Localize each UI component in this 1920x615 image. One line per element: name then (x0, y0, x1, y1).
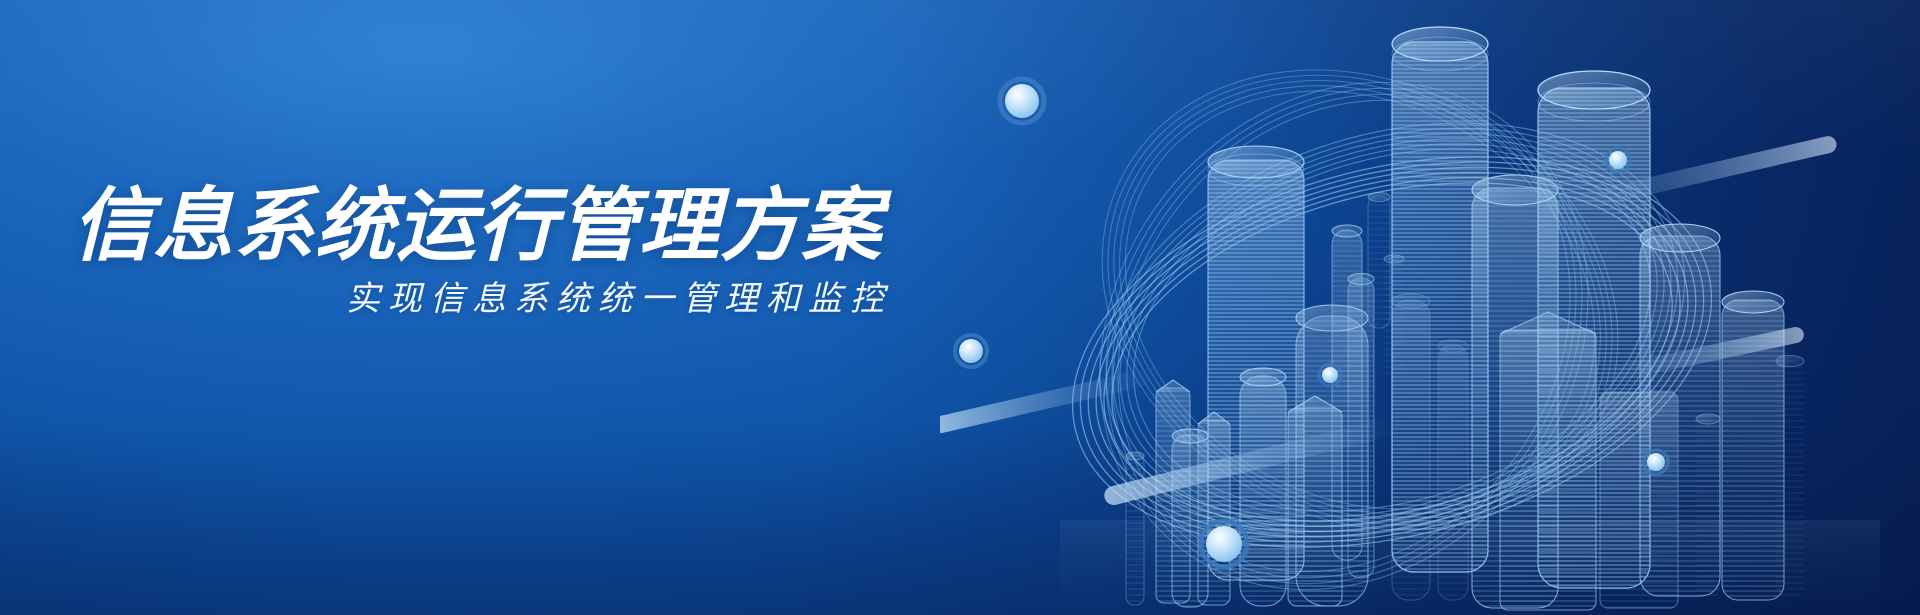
headline-block: 信息系统运行管理方案 实现信息系统统一管理和监控 (0, 0, 980, 615)
banner-title: 信息系统运行管理方案 (72, 183, 882, 269)
banner-subtitle: 实现信息系统统一管理和监控 (72, 279, 892, 320)
banner-root: 信息系统运行管理方案 实现信息系统统一管理和监控 (0, 0, 1920, 615)
